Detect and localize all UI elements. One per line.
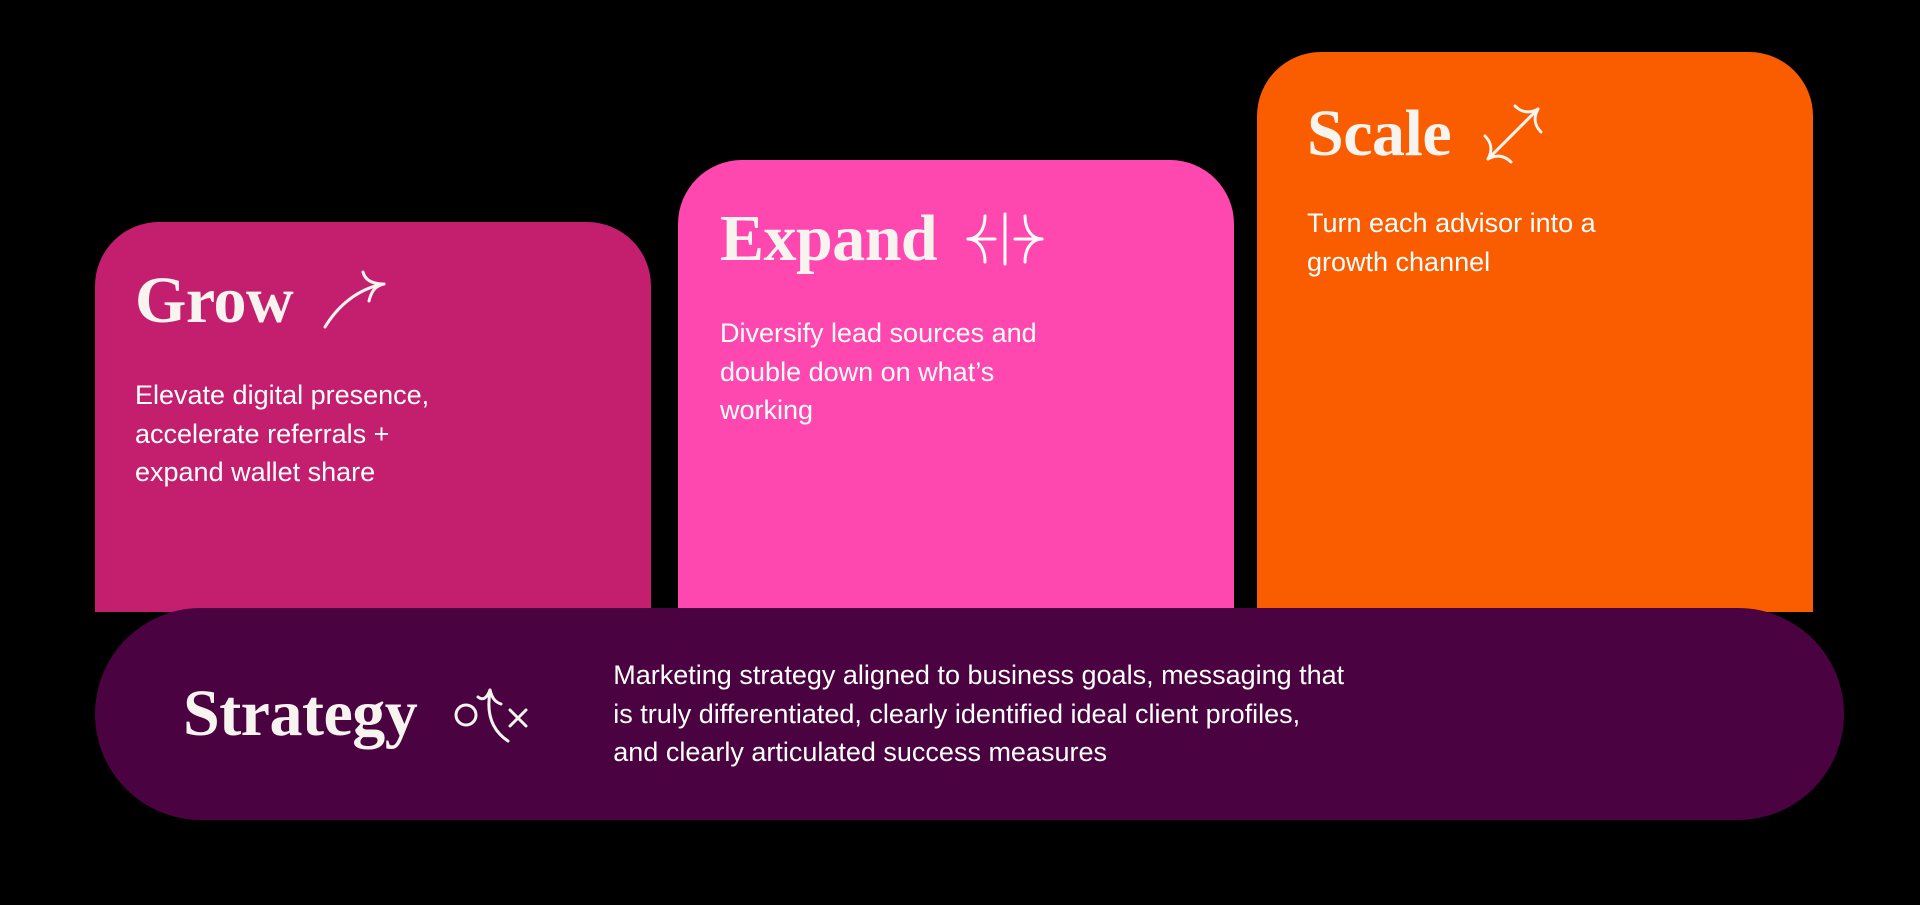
card-grow-header: Grow <box>135 268 429 334</box>
card-expand-body: Diversify lead sources and double down o… <box>720 314 1047 430</box>
card-scale-content: Scale Turn each advisor into a growth ch… <box>1307 98 1596 281</box>
strategy-bar[interactable]: Strategy Marketing strategy aligned to b… <box>95 608 1844 820</box>
playbook-circle-arrow-x-icon <box>453 677 533 751</box>
strategy-body: Marketing strategy aligned to business g… <box>613 656 1844 772</box>
card-scale-body: Turn each advisor into a growth channel <box>1307 204 1596 281</box>
card-expand-title: Expand <box>720 206 937 272</box>
infographic-canvas: Grow Elevate digital presence, accelerat… <box>0 0 1920 905</box>
card-scale-title: Scale <box>1307 101 1451 167</box>
card-expand[interactable]: Expand Diversify lead sources and double… <box>678 160 1234 612</box>
card-scale-header: Scale <box>1307 98 1596 170</box>
diagonal-double-arrow-icon <box>1477 98 1549 170</box>
card-grow-content: Grow Elevate digital presence, accelerat… <box>135 268 429 492</box>
card-grow-title: Grow <box>135 268 293 334</box>
strategy-header: Strategy <box>183 677 533 751</box>
card-expand-content: Expand Diversify lead sources and double… <box>720 206 1047 430</box>
strategy-title: Strategy <box>183 681 417 747</box>
card-scale[interactable]: Scale Turn each advisor into a growth ch… <box>1257 52 1813 612</box>
curved-arrow-up-right-icon <box>319 268 393 334</box>
card-grow-body: Elevate digital presence, accelerate ref… <box>135 376 429 492</box>
expand-horizontal-arrows-icon <box>963 209 1047 269</box>
card-grow[interactable]: Grow Elevate digital presence, accelerat… <box>95 222 651 612</box>
card-expand-header: Expand <box>720 206 1047 272</box>
